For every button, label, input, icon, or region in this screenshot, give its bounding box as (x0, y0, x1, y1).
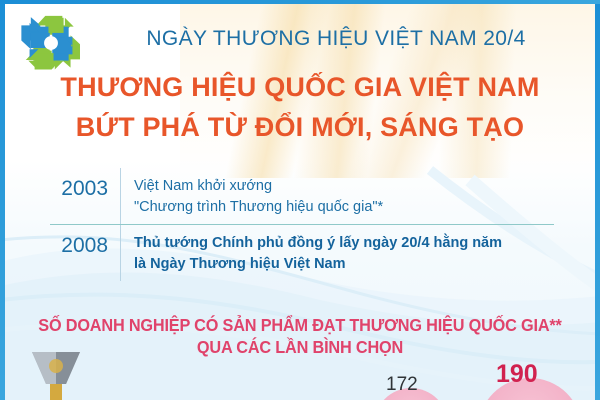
infographic-canvas: NGÀY THƯƠNG HIỆU VIỆT NAM 20/4 THƯƠNG HI… (0, 0, 600, 400)
stat-value: 190 (496, 360, 538, 389)
stats-heading: SỐ DOANH NGHIỆP CÓ SẢN PHẨM ĐẠT THƯƠNG H… (30, 314, 569, 359)
headline-line-2: BỨT PHÁ TỪ ĐỔI MỚI, SÁNG TẠO (10, 112, 590, 143)
timeline-year: 2008 (56, 225, 120, 258)
timeline-text-line: Thủ tướng Chính phủ đồng ý lấy ngày 20/4… (134, 233, 502, 254)
timeline-text: Thủ tướng Chính phủ đồng ý lấy ngày 20/4… (120, 225, 502, 274)
timeline-year: 2003 (56, 168, 120, 201)
left-border-strip (0, 0, 5, 400)
timeline-row: 2003 Việt Nam khởi xướng "Chương trình T… (56, 168, 554, 224)
stats-heading-line-2: QUA CÁC LẦN BÌNH CHỌN (30, 336, 569, 358)
award-trophy-icon (18, 350, 94, 400)
top-border-strip (0, 0, 600, 4)
stats-heading-line-1: SỐ DOANH NGHIỆP CÓ SẢN PHẨM ĐẠT THƯƠNG H… (38, 315, 561, 335)
eyebrow-title: NGÀY THƯƠNG HIỆU VIỆT NAM 20/4 (96, 27, 576, 51)
timeline-separator (120, 168, 121, 224)
timeline-text-line: là Ngày Thương hiệu Việt Nam (134, 254, 502, 275)
timeline: 2003 Việt Nam khởi xướng "Chương trình T… (56, 168, 554, 281)
headline-line-1: THƯƠNG HIỆU QUỐC GIA VIỆT NAM (10, 72, 590, 103)
vietnam-national-brand-logo-icon (18, 14, 84, 72)
timeline-text: Việt Nam khởi xướng "Chương trình Thương… (120, 168, 383, 217)
timeline-text-line: Việt Nam khởi xướng (134, 176, 383, 197)
right-border-strip (595, 0, 600, 400)
timeline-row: 2008 Thủ tướng Chính phủ đồng ý lấy ngày… (56, 225, 554, 281)
timeline-text-line: "Chương trình Thương hiệu quốc gia"* (134, 197, 383, 218)
stat-value: 172 (386, 374, 418, 396)
timeline-separator (120, 225, 121, 281)
